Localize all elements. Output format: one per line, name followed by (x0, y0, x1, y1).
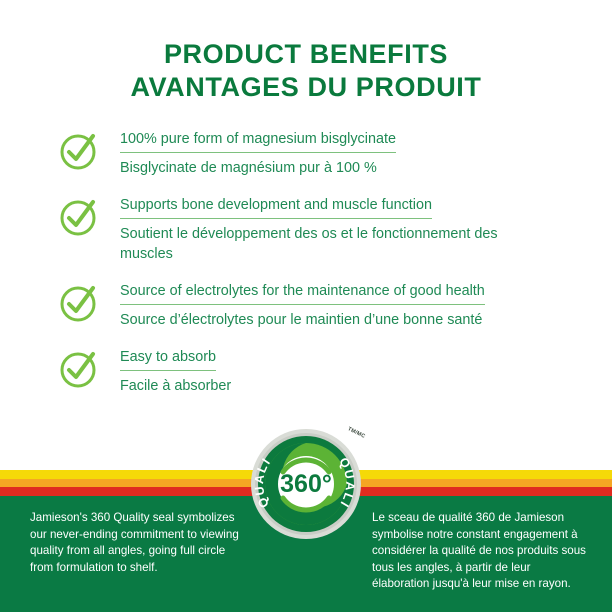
benefit-item: Source of electrolytes for the maintenan… (58, 280, 582, 330)
benefit-text-french: Facile à absorber (120, 376, 540, 396)
benefit-text-english: Source of electrolytes for the maintenan… (120, 282, 485, 305)
check-circle-icon (58, 282, 100, 324)
seal-center-label: 360° (280, 470, 332, 498)
benefit-text-english: 100% pure form of magnesium bisglycinate (120, 130, 396, 153)
benefits-list: 100% pure form of magnesium bisglycinate… (0, 128, 612, 396)
benefit-text-english: Supports bone development and muscle fun… (120, 196, 432, 219)
check-circle-icon (58, 130, 100, 172)
benefit-text: Source of electrolytes for the maintenan… (120, 280, 582, 330)
benefit-text-english: Easy to absorb (120, 348, 216, 371)
quality-seal-badge: QUALITY QUALITÉ 360° TM/MC (250, 428, 362, 540)
page-title: PRODUCT BENEFITS AVANTAGES DU PRODUIT (0, 0, 612, 104)
benefit-item: Easy to absorb Facile à absorber (58, 346, 582, 396)
benefit-text: Supports bone development and muscle fun… (120, 194, 582, 264)
title-line-english: PRODUCT BENEFITS (0, 38, 612, 71)
benefit-text: 100% pure form of magnesium bisglycinate… (120, 128, 582, 178)
benefit-text-french: Source d’électrolytes pour le maintien d… (120, 310, 540, 330)
benefit-item: Supports bone development and muscle fun… (58, 194, 582, 264)
benefit-text-french: Soutient le développement des os et le f… (120, 224, 540, 264)
benefit-text: Easy to absorb Facile à absorber (120, 346, 582, 396)
check-circle-icon (58, 196, 100, 238)
title-line-french: AVANTAGES DU PRODUIT (0, 71, 612, 104)
benefit-item: 100% pure form of magnesium bisglycinate… (58, 128, 582, 178)
footer-text-french: Le sceau de qualité 360 de Jamieson symb… (372, 510, 590, 593)
check-circle-icon (58, 348, 100, 390)
benefit-text-french: Bisglycinate de magnésium pur à 100 % (120, 158, 540, 178)
footer-text-english: Jamieson's 360 Quality seal symbolizes o… (30, 510, 246, 593)
